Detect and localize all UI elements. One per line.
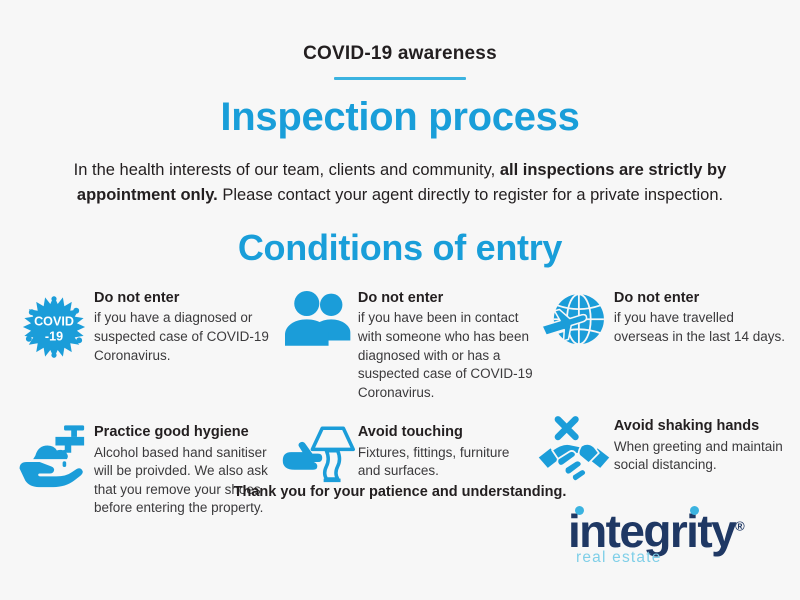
- cross-mark-icon: [558, 420, 576, 438]
- two-people-icon: [285, 290, 351, 346]
- condition-icon-wrap: [278, 288, 358, 346]
- intro-paragraph: In the health interests of our team, cli…: [50, 158, 750, 208]
- logo-dot-i1: [575, 506, 584, 515]
- condition-icon-wrap: [534, 288, 614, 354]
- condition-copy: Do not enter if you have been in contact…: [358, 288, 534, 402]
- conditions-row-1: COVID -19 Do not enter if you have a dia…: [14, 288, 786, 402]
- logo-tagline: real estate: [576, 550, 662, 566]
- condition-body: Fixtures, fittings, furniture and surfac…: [358, 444, 534, 481]
- condition-heading: Practice good hygiene: [94, 423, 278, 441]
- covid-awareness-poster: COVID-19 awareness Inspection process In…: [0, 0, 800, 600]
- condition-body: if you have a diagnosed or suspected cas…: [94, 309, 278, 365]
- handwash-tap-icon: [18, 424, 90, 490]
- condition-item-no-handshake: Avoid shaking hands When greeting and ma…: [534, 416, 786, 490]
- header-divider: [334, 77, 466, 80]
- condition-item-avoid-touching: Avoid touching Fixtures, fittings, furni…: [278, 416, 534, 486]
- logo-registered-mark: ®: [735, 519, 745, 534]
- lamp-pointing-hand-icon: [281, 424, 355, 486]
- section-title-conditions: Conditions of entry: [0, 230, 800, 266]
- thank-you-text: Thank you for your patience and understa…: [0, 484, 800, 500]
- condition-item-travel: Do not enter if you have travelled overs…: [534, 288, 786, 354]
- condition-copy: Avoid shaking hands When greeting and ma…: [614, 416, 786, 474]
- page-title: Inspection process: [0, 97, 800, 137]
- covid-icon-label-top: COVID: [34, 315, 74, 329]
- logo-wordmark: integrity®: [568, 508, 745, 554]
- condition-body: Alcohol based hand sanitiser will be pro…: [94, 444, 278, 519]
- condition-icon-wrap: [278, 422, 358, 486]
- header-divider-wrap: [0, 77, 800, 80]
- condition-heading: Do not enter: [614, 289, 786, 307]
- intro-text-plain-1: In the health interests of our team, cli…: [74, 161, 500, 179]
- logo-dot-i2: [690, 506, 699, 515]
- integrity-real-estate-logo: integrity® real estate: [562, 508, 778, 574]
- condition-icon-wrap: [14, 422, 94, 490]
- condition-heading: Do not enter: [358, 289, 534, 307]
- condition-heading: Do not enter: [94, 289, 278, 307]
- condition-item-covid-case: COVID -19 Do not enter if you have a dia…: [14, 288, 278, 365]
- condition-copy: Do not enter if you have travelled overs…: [614, 288, 786, 346]
- condition-heading: Avoid touching: [358, 423, 534, 441]
- condition-icon-wrap: COVID -19: [14, 288, 94, 364]
- eyebrow-heading: COVID-19 awareness: [0, 0, 800, 63]
- condition-copy: Practice good hygiene Alcohol based hand…: [94, 422, 278, 518]
- globe-airplane-icon: [539, 290, 609, 354]
- covid-virus-icon: COVID -19: [17, 290, 91, 364]
- condition-heading: Avoid shaking hands: [614, 417, 786, 435]
- conditions-row-2: Practice good hygiene Alcohol based hand…: [14, 416, 786, 518]
- covid-icon-label-bottom: -19: [45, 329, 63, 343]
- no-handshake-icon: [536, 416, 612, 490]
- intro-text-plain-2: Please contact your agent directly to re…: [218, 186, 723, 204]
- condition-copy: Avoid touching Fixtures, fittings, furni…: [358, 422, 534, 480]
- condition-item-contact: Do not enter if you have been in contact…: [278, 288, 534, 402]
- condition-copy: Do not enter if you have a diagnosed or …: [94, 288, 278, 365]
- condition-body: if you have travelled overseas in the la…: [614, 309, 786, 346]
- condition-body: When greeting and maintain social distan…: [614, 438, 786, 475]
- condition-icon-wrap: [534, 416, 614, 490]
- condition-item-hygiene: Practice good hygiene Alcohol based hand…: [14, 416, 278, 518]
- condition-body: if you have been in contact with someone…: [358, 309, 534, 402]
